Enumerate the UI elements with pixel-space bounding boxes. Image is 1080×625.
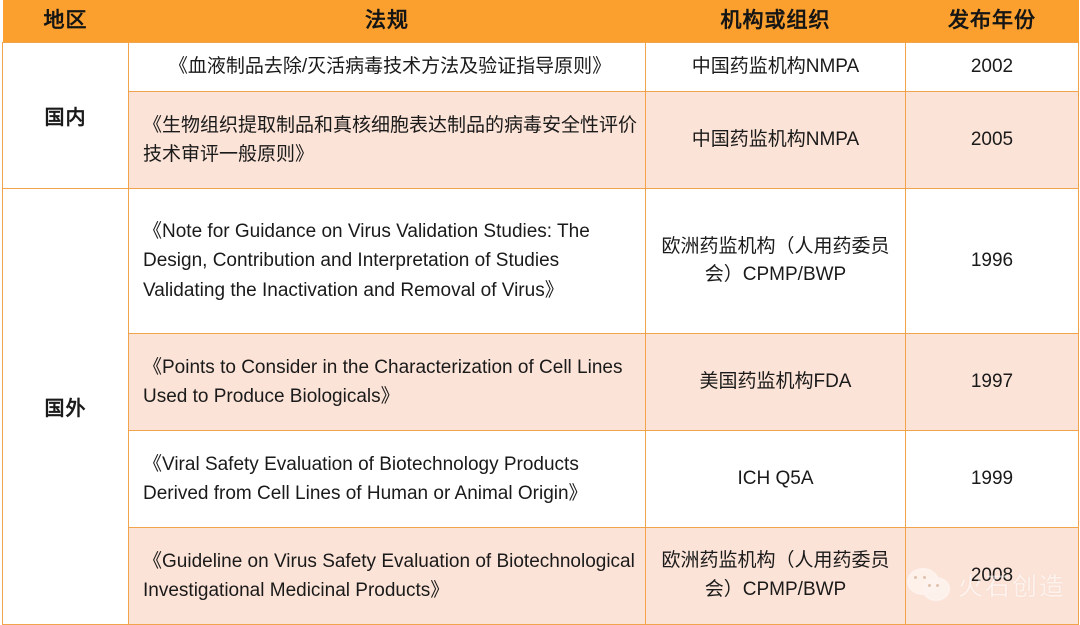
table-row: 国内 《血液制品去除/灭活病毒技术方法及验证指导原则》 中国药监机构NMPA 2… [3, 43, 1079, 92]
regulation-cell: 《血液制品去除/灭活病毒技术方法及验证指导原则》 [129, 43, 646, 92]
agency-cell: 美国药监机构FDA [646, 333, 906, 430]
region-cell-overseas: 国外 [3, 189, 129, 625]
table-row: 《Points to Consider in the Characterizat… [3, 333, 1079, 430]
year-cell: 2002 [906, 43, 1079, 92]
year-cell: 1996 [906, 189, 1079, 334]
regulation-cell: 《Viral Safety Evaluation of Biotechnolog… [129, 430, 646, 527]
agency-cell: ICH Q5A [646, 430, 906, 527]
agency-cell: 中国药监机构NMPA [646, 92, 906, 189]
year-cell: 2005 [906, 92, 1079, 189]
year-cell: 1997 [906, 333, 1079, 430]
regulation-cell: 《Points to Consider in the Characterizat… [129, 333, 646, 430]
regulation-table: 地区 法规 机构或组织 发布年份 国内 《血液制品去除/灭活病毒技术方法及验证指… [2, 0, 1079, 625]
agency-cell: 中国药监机构NMPA [646, 43, 906, 92]
region-cell-domestic: 国内 [3, 43, 129, 189]
table-row: 国外 《Note for Guidance on Virus Validatio… [3, 189, 1079, 334]
column-header-agency: 机构或组织 [646, 0, 906, 43]
agency-cell: 欧洲药监机构（人用药委员会）CPMP/BWP [646, 189, 906, 334]
table-row: 《Guideline on Virus Safety Evaluation of… [3, 527, 1079, 624]
regulation-cell: 《生物组织提取制品和真核细胞表达制品的病毒安全性评价技术审评一般原则》 [129, 92, 646, 189]
year-cell: 1999 [906, 430, 1079, 527]
agency-cell: 欧洲药监机构（人用药委员会）CPMP/BWP [646, 527, 906, 624]
regulation-cell: 《Note for Guidance on Virus Validation S… [129, 189, 646, 334]
year-cell: 2008 [906, 527, 1079, 624]
regulation-table-container: 地区 法规 机构或组织 发布年份 国内 《血液制品去除/灭活病毒技术方法及验证指… [0, 0, 1080, 625]
table-row: 《生物组织提取制品和真核细胞表达制品的病毒安全性评价技术审评一般原则》 中国药监… [3, 92, 1079, 189]
table-row: 《Viral Safety Evaluation of Biotechnolog… [3, 430, 1079, 527]
column-header-region: 地区 [3, 0, 129, 43]
table-header-row: 地区 法规 机构或组织 发布年份 [3, 0, 1079, 43]
table-header: 地区 法规 机构或组织 发布年份 [3, 0, 1079, 43]
table-body: 国内 《血液制品去除/灭活病毒技术方法及验证指导原则》 中国药监机构NMPA 2… [3, 43, 1079, 625]
regulation-cell: 《Guideline on Virus Safety Evaluation of… [129, 527, 646, 624]
column-header-regulation: 法规 [129, 0, 646, 43]
column-header-year: 发布年份 [906, 0, 1079, 43]
